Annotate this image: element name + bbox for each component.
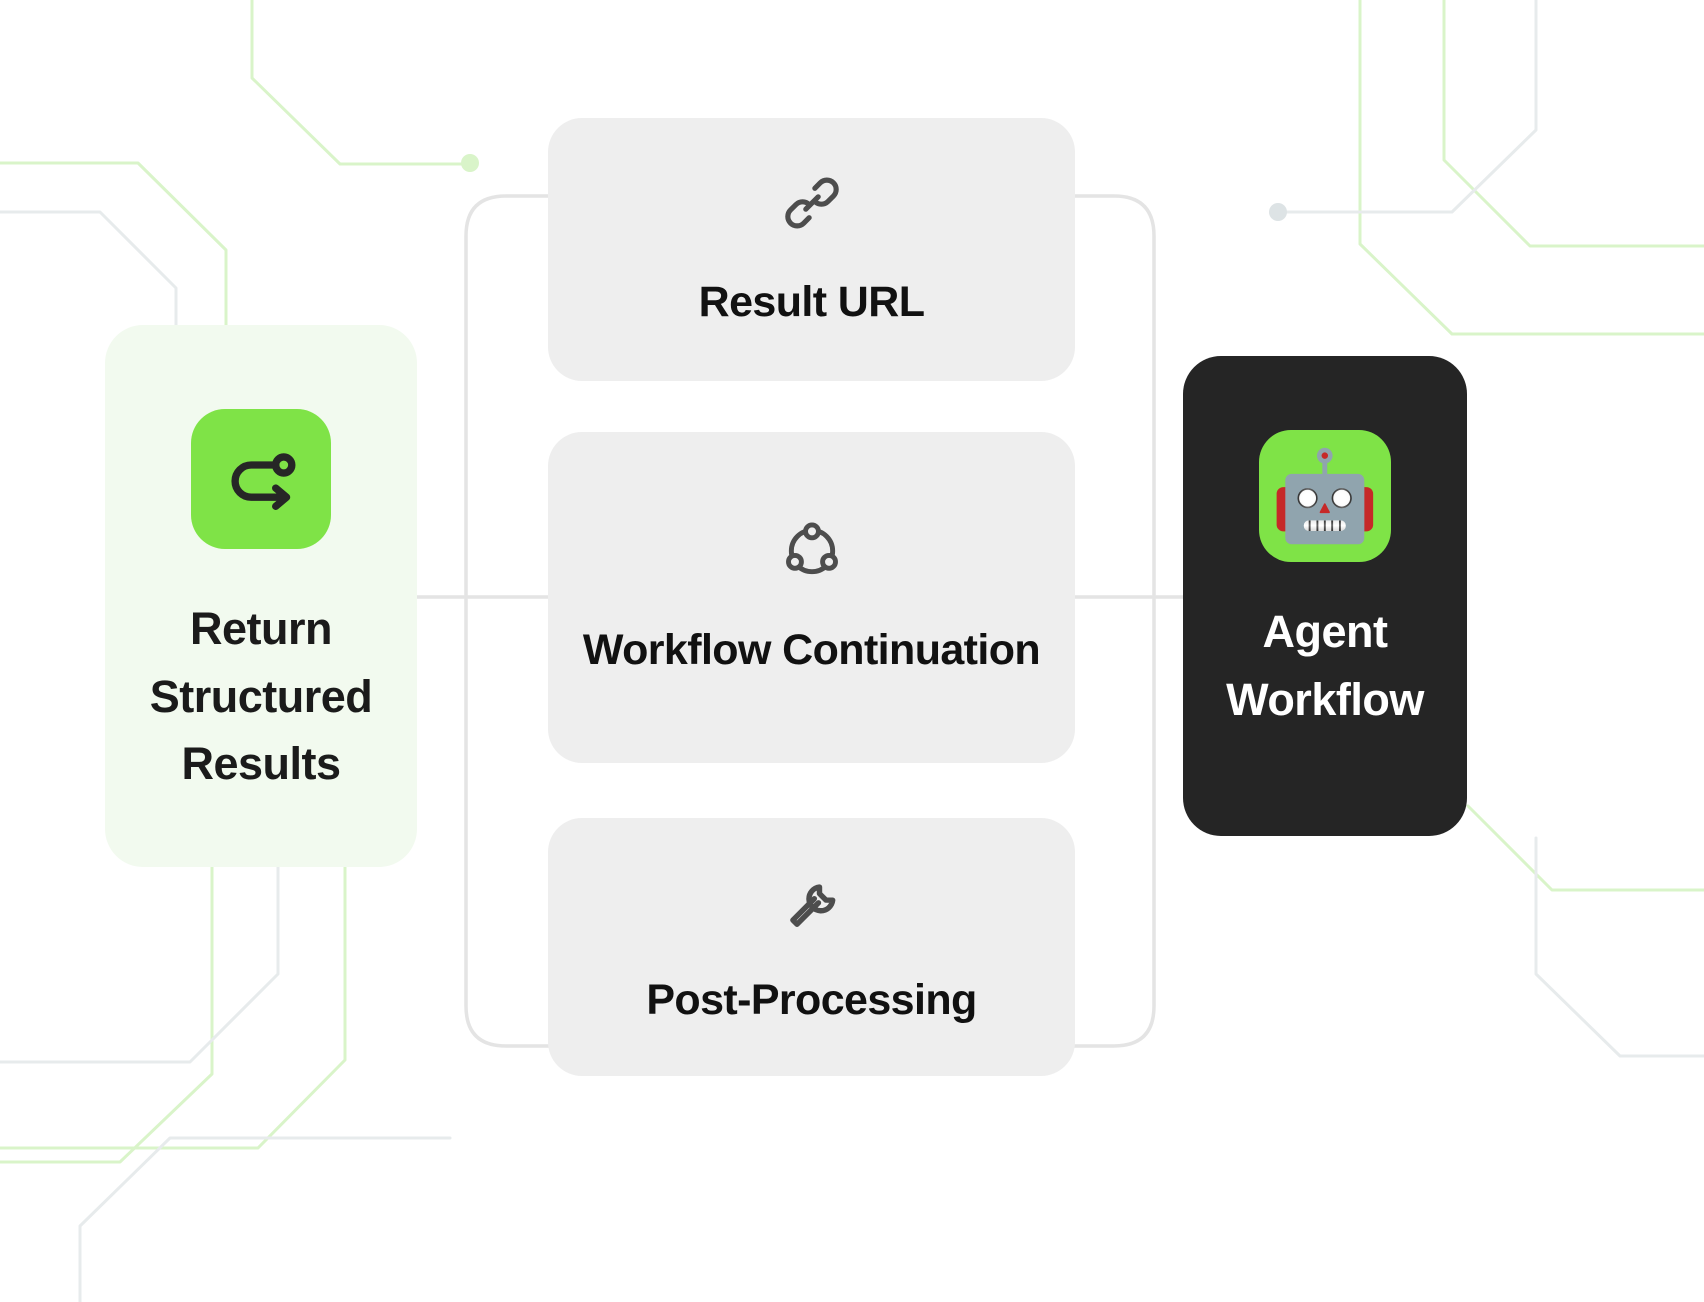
trace-green-bottom-right <box>1468 806 1704 890</box>
trace-green-right-upper <box>1444 0 1704 246</box>
wrench-icon <box>781 870 843 932</box>
trace-gray-bottom-left-2 <box>80 1138 450 1302</box>
node-workflow-continuation[interactable]: Workflow Continuation <box>548 432 1075 763</box>
node-label: Result URL <box>673 269 951 336</box>
node-return-structured-results[interactable]: Return Structured Results <box>105 325 417 867</box>
trace-dot-gray-top-right <box>1269 203 1287 221</box>
node-label: Post-Processing <box>620 967 1002 1034</box>
link-icon-wrap <box>781 163 843 243</box>
route-icon <box>219 437 303 521</box>
robot-emoji-tile: 🤖 <box>1259 430 1391 562</box>
link-icon <box>781 172 843 234</box>
trace-gray-bottom-left <box>0 860 278 1062</box>
trace-green-top-right <box>1360 0 1704 334</box>
trace-gray-bottom-right <box>1536 838 1704 1056</box>
trace-dot-green-top <box>461 154 479 172</box>
route-icon-tile <box>191 409 331 549</box>
diagram-canvas: Return Structured Results Result URL Wor… <box>0 0 1704 1302</box>
share-network-icon-wrap <box>781 511 843 591</box>
node-post-processing[interactable]: Post-Processing <box>548 818 1075 1076</box>
wrench-icon-wrap <box>781 861 843 941</box>
share-network-icon <box>781 520 843 582</box>
node-result-url[interactable]: Result URL <box>548 118 1075 381</box>
trace-green-bottom-left <box>0 840 345 1148</box>
node-label: Agent Workflow <box>1183 598 1467 733</box>
connector-right-bus <box>1072 196 1154 1046</box>
trace-green-bottom-left-2 <box>0 860 212 1162</box>
robot-emoji-icon: 🤖 <box>1270 452 1380 540</box>
trace-gray-top-right <box>1278 0 1536 212</box>
node-label: Workflow Continuation <box>557 617 1066 684</box>
node-label: Return Structured Results <box>105 595 417 798</box>
node-agent-workflow[interactable]: 🤖 Agent Workflow <box>1183 356 1467 836</box>
trace-green-top-left <box>252 0 470 164</box>
